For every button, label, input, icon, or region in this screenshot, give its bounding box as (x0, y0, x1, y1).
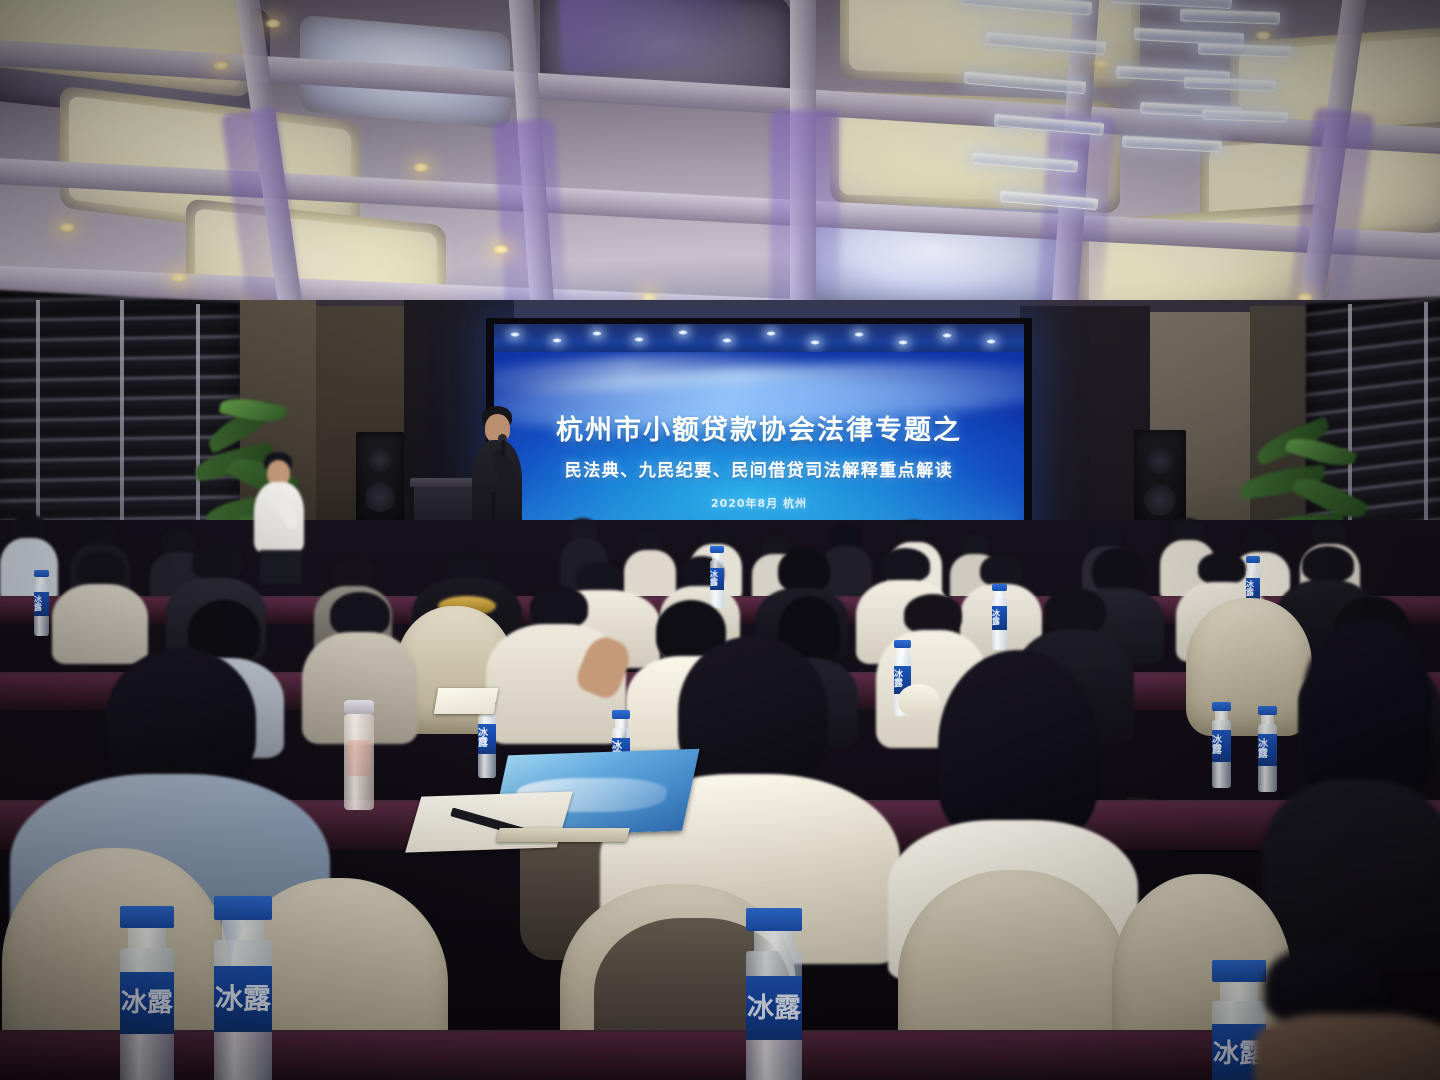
downlight-icon (1092, 58, 1110, 69)
downlight-icon (170, 272, 188, 283)
downlight-icon (1254, 30, 1272, 41)
slide-subtitle: 民法典、九民纪要、民间借贷司法解释重点解读 (494, 456, 1024, 481)
slide-title: 杭州市小额贷款协会法律专题之 (494, 408, 1024, 447)
downlight-icon (58, 222, 76, 233)
water-bottle: 冰露 (1212, 702, 1231, 788)
water-bottle-foreground: 冰露 (746, 908, 802, 1080)
downlight-icon (492, 244, 510, 255)
microphone (501, 440, 505, 456)
ceiling (0, 0, 1440, 330)
downlight-icon (212, 60, 230, 71)
accent-light-purple (558, 0, 742, 75)
attendee-nearest-right (1254, 944, 1440, 1080)
water-bottle: 冰露 (34, 570, 49, 636)
attendee-foreground-far-right (1262, 620, 1440, 960)
accent-light-purple (493, 118, 569, 330)
water-bottle: 冰露 (992, 584, 1007, 650)
water-bottle-foreground: 冰露 (214, 896, 272, 1080)
accent-light-purple (770, 110, 840, 325)
conference-hall-photo: 杭州市小额贷款协会法律专题之 民法典、九民纪要、民间借贷司法解释重点解读 202… (0, 0, 1440, 1080)
slide-date: 2020年8月 杭州 (494, 495, 1024, 511)
downlight-icon (264, 18, 282, 29)
water-bottle-foreground: 冰露 (120, 906, 174, 1080)
water-bottle: 冰露 (710, 546, 724, 608)
bottle-band (347, 740, 371, 776)
notes-sheet (434, 688, 499, 714)
booklet-page (496, 828, 629, 842)
pa-speaker-left (356, 432, 404, 528)
downlight-icon (412, 162, 430, 173)
water-bottle-tall (344, 700, 374, 810)
led-screen-top-lip (494, 324, 1024, 354)
